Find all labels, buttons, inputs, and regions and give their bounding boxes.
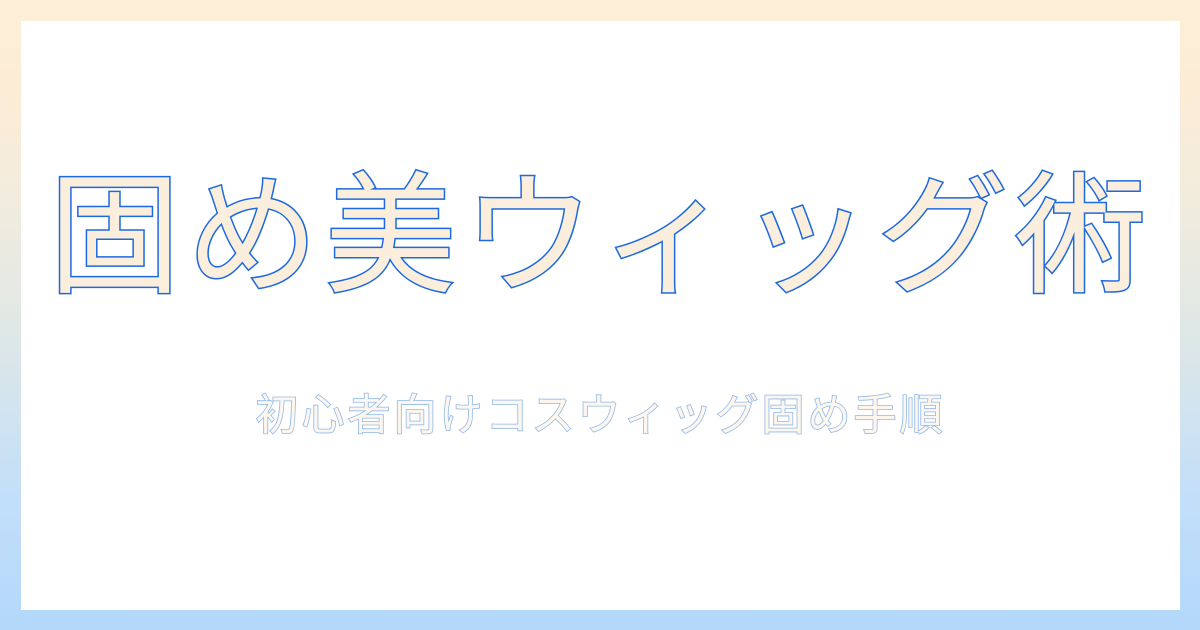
subtitle-container: 初心者向けコスウィッグ固め手順: [21, 395, 1180, 438]
title-container: 固め美ウィッグ術: [21, 171, 1180, 303]
page-subtitle: 初心者向けコスウィッグ固め手順: [256, 395, 946, 438]
page-title: 固め美ウィッグ術: [49, 171, 1153, 303]
poster-card: 固め美ウィッグ術 初心者向けコスウィッグ固め手順: [21, 21, 1180, 610]
poster-background: 固め美ウィッグ術 初心者向けコスウィッグ固め手順: [0, 0, 1200, 630]
